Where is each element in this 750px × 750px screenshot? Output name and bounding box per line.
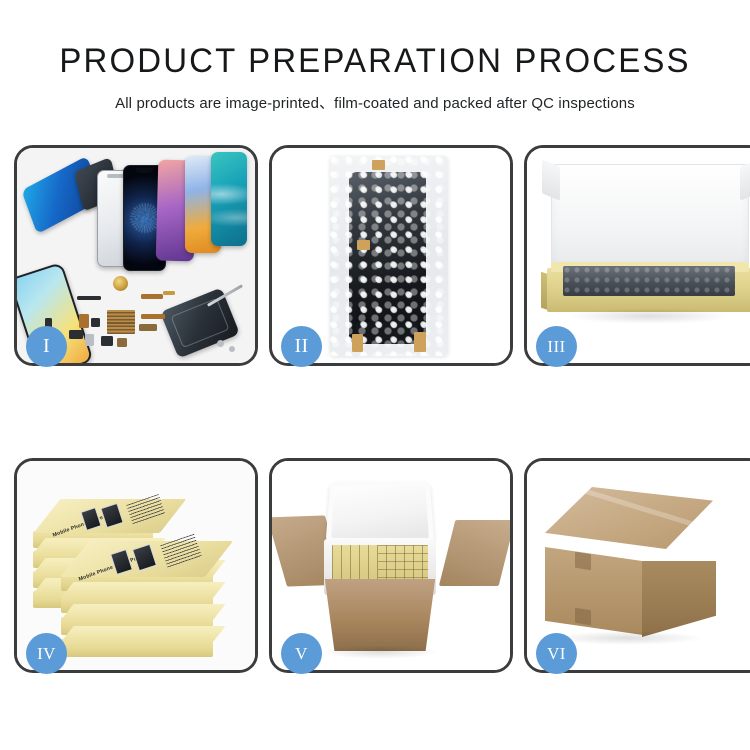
carton-tape-upper [575,552,591,571]
part-screw-2 [229,346,235,352]
box-shadow-3 [567,308,731,324]
bubble-texture-secondary [330,156,448,356]
tape-bottom-left [352,334,363,352]
part-camera-module [69,330,83,339]
step-panel-3[interactable]: III [524,145,750,366]
step-badge-4: IV [26,633,67,674]
inner-box-white-lid [551,164,749,274]
part-module [139,324,157,331]
page-subtitle: All products are image-printed、film-coat… [6,78,745,113]
part-connector-strip [77,296,101,300]
carton-tape-lower [575,608,591,626]
box-shadow-6 [553,631,703,645]
step-panel-6[interactable]: VI [524,458,750,673]
part-flex-cable-3 [141,314,165,319]
part-gold-contact [163,291,175,295]
step-panel-1[interactable]: I [14,145,258,366]
step-badge-2: II [281,326,322,367]
part-ic-chip [91,318,100,327]
bubble-wrap-bag [330,156,448,356]
part-flex-cable-2 [79,314,89,328]
part-speaker-coin [113,276,128,291]
page-header: PRODUCT PREPARATION PROCESS All products… [0,0,750,113]
part-screw-1 [217,340,224,347]
process-steps-grid: I II [14,145,736,673]
carton-body [320,579,440,651]
tape-bottom-right [414,332,426,352]
step-badge-1: I [26,326,67,367]
step-panel-5[interactable]: V [269,458,513,673]
phone-display-teal [211,152,247,246]
step-badge-6: VI [536,633,577,674]
step-panel-4[interactable]: Mobile Phone Spare Parts Mobile Phone Sp… [14,458,258,673]
step-badge-5: V [281,633,322,674]
step-panel-2[interactable]: II [269,145,513,366]
part-chip-grid [107,310,135,334]
step-badge-3: III [536,326,577,367]
part-flex-cable-1 [141,294,163,299]
stacked-product-boxes: Mobile Phone Spare Parts Mobile Phone Sp… [29,475,245,663]
box-shadow-5 [322,645,438,659]
carton-front-face [545,547,643,635]
part-vibrator [117,338,127,347]
inner-box-bubble-contents [563,266,735,296]
page-title: PRODUCT PREPARATION PROCESS [11,0,739,78]
tape-middle [357,240,370,250]
stack-box-r4 [61,639,213,657]
tape-top [372,160,385,170]
foam-lid [326,482,435,544]
part-buzzer [101,336,113,346]
part-metal-bracket [85,334,94,346]
